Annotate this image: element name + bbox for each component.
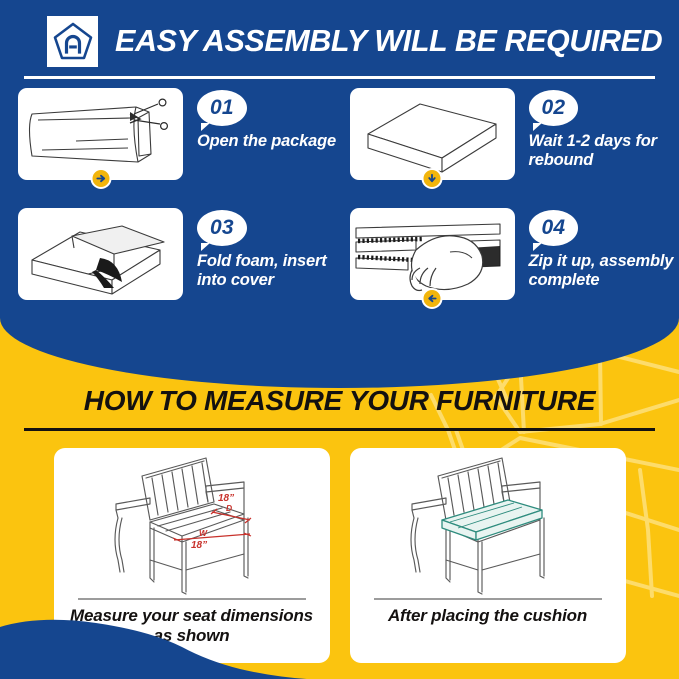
measure-panel-cushion: After placing the cushion (350, 448, 626, 663)
step-02-text: 02 Wait 1-2 days for rebound (529, 88, 679, 170)
measure-panels: 18” D W 18” Measure your seat dimensions… (0, 448, 679, 663)
step-02-number: 02 (529, 90, 579, 126)
step-01-number: 01 (197, 90, 247, 126)
header-divider (24, 76, 655, 79)
panel-1-caption: Measure your seat dimensions as shown (54, 606, 330, 646)
arrow-left-badge (422, 288, 443, 309)
house-pentagon-a-icon (47, 16, 98, 67)
depth-letter-label: D (226, 503, 232, 513)
page-title: EASY ASSEMBLY WILL BE REQUIRED (115, 24, 662, 59)
assembly-header: EASY ASSEMBLY WILL BE REQUIRED (0, 12, 679, 70)
assembly-section: EASY ASSEMBLY WILL BE REQUIRED (0, 0, 679, 388)
zip-cover-illustration (350, 208, 515, 300)
arrow-right-badge (90, 168, 111, 189)
measure-panel-dimensions: 18” D W 18” Measure your seat dimensions… (54, 448, 330, 663)
package-illustration (18, 88, 183, 180)
step-01-text: 01 Open the package (197, 88, 336, 151)
step-row-2: 03 Fold foam, insert into cover (0, 208, 679, 328)
step-01: 01 Open the package (0, 88, 340, 208)
chair-dimensions-illustration: 18” D W 18” (54, 448, 330, 596)
step-03-text: 03 Fold foam, insert into cover (197, 208, 340, 290)
step-04-text: 04 Zip it up, assembly complete (529, 208, 679, 290)
step-04-number: 04 (529, 210, 579, 246)
panel-2-divider (374, 598, 602, 600)
width-letter-label: W (199, 528, 208, 538)
width-value-label: 18” (191, 540, 207, 551)
panel-1-divider (78, 598, 306, 600)
chair-cushion-illustration (350, 448, 626, 596)
step-03: 03 Fold foam, insert into cover (0, 208, 340, 328)
panel-2-caption: After placing the cushion (350, 606, 626, 626)
fold-foam-illustration (18, 208, 183, 300)
measure-divider (24, 428, 655, 431)
foam-cushion-illustration (350, 88, 515, 180)
step-04: 04 Zip it up, assembly complete (340, 208, 679, 328)
arrow-down-badge (422, 168, 443, 189)
step-04-label: Zip it up, assembly complete (529, 252, 679, 290)
step-03-label: Fold foam, insert into cover (197, 252, 340, 290)
step-01-label: Open the package (197, 132, 336, 151)
step-03-number: 03 (197, 210, 247, 246)
infographic-page: EASY ASSEMBLY WILL BE REQUIRED (0, 0, 679, 679)
step-02-label: Wait 1-2 days for rebound (529, 132, 679, 170)
step-row-1: 01 Open the package (0, 88, 679, 208)
measure-section-title: HOW TO MEASURE YOUR FURNITURE (0, 385, 679, 417)
assembly-steps: 01 Open the package (0, 88, 679, 328)
step-02: 02 Wait 1-2 days for rebound (340, 88, 679, 208)
